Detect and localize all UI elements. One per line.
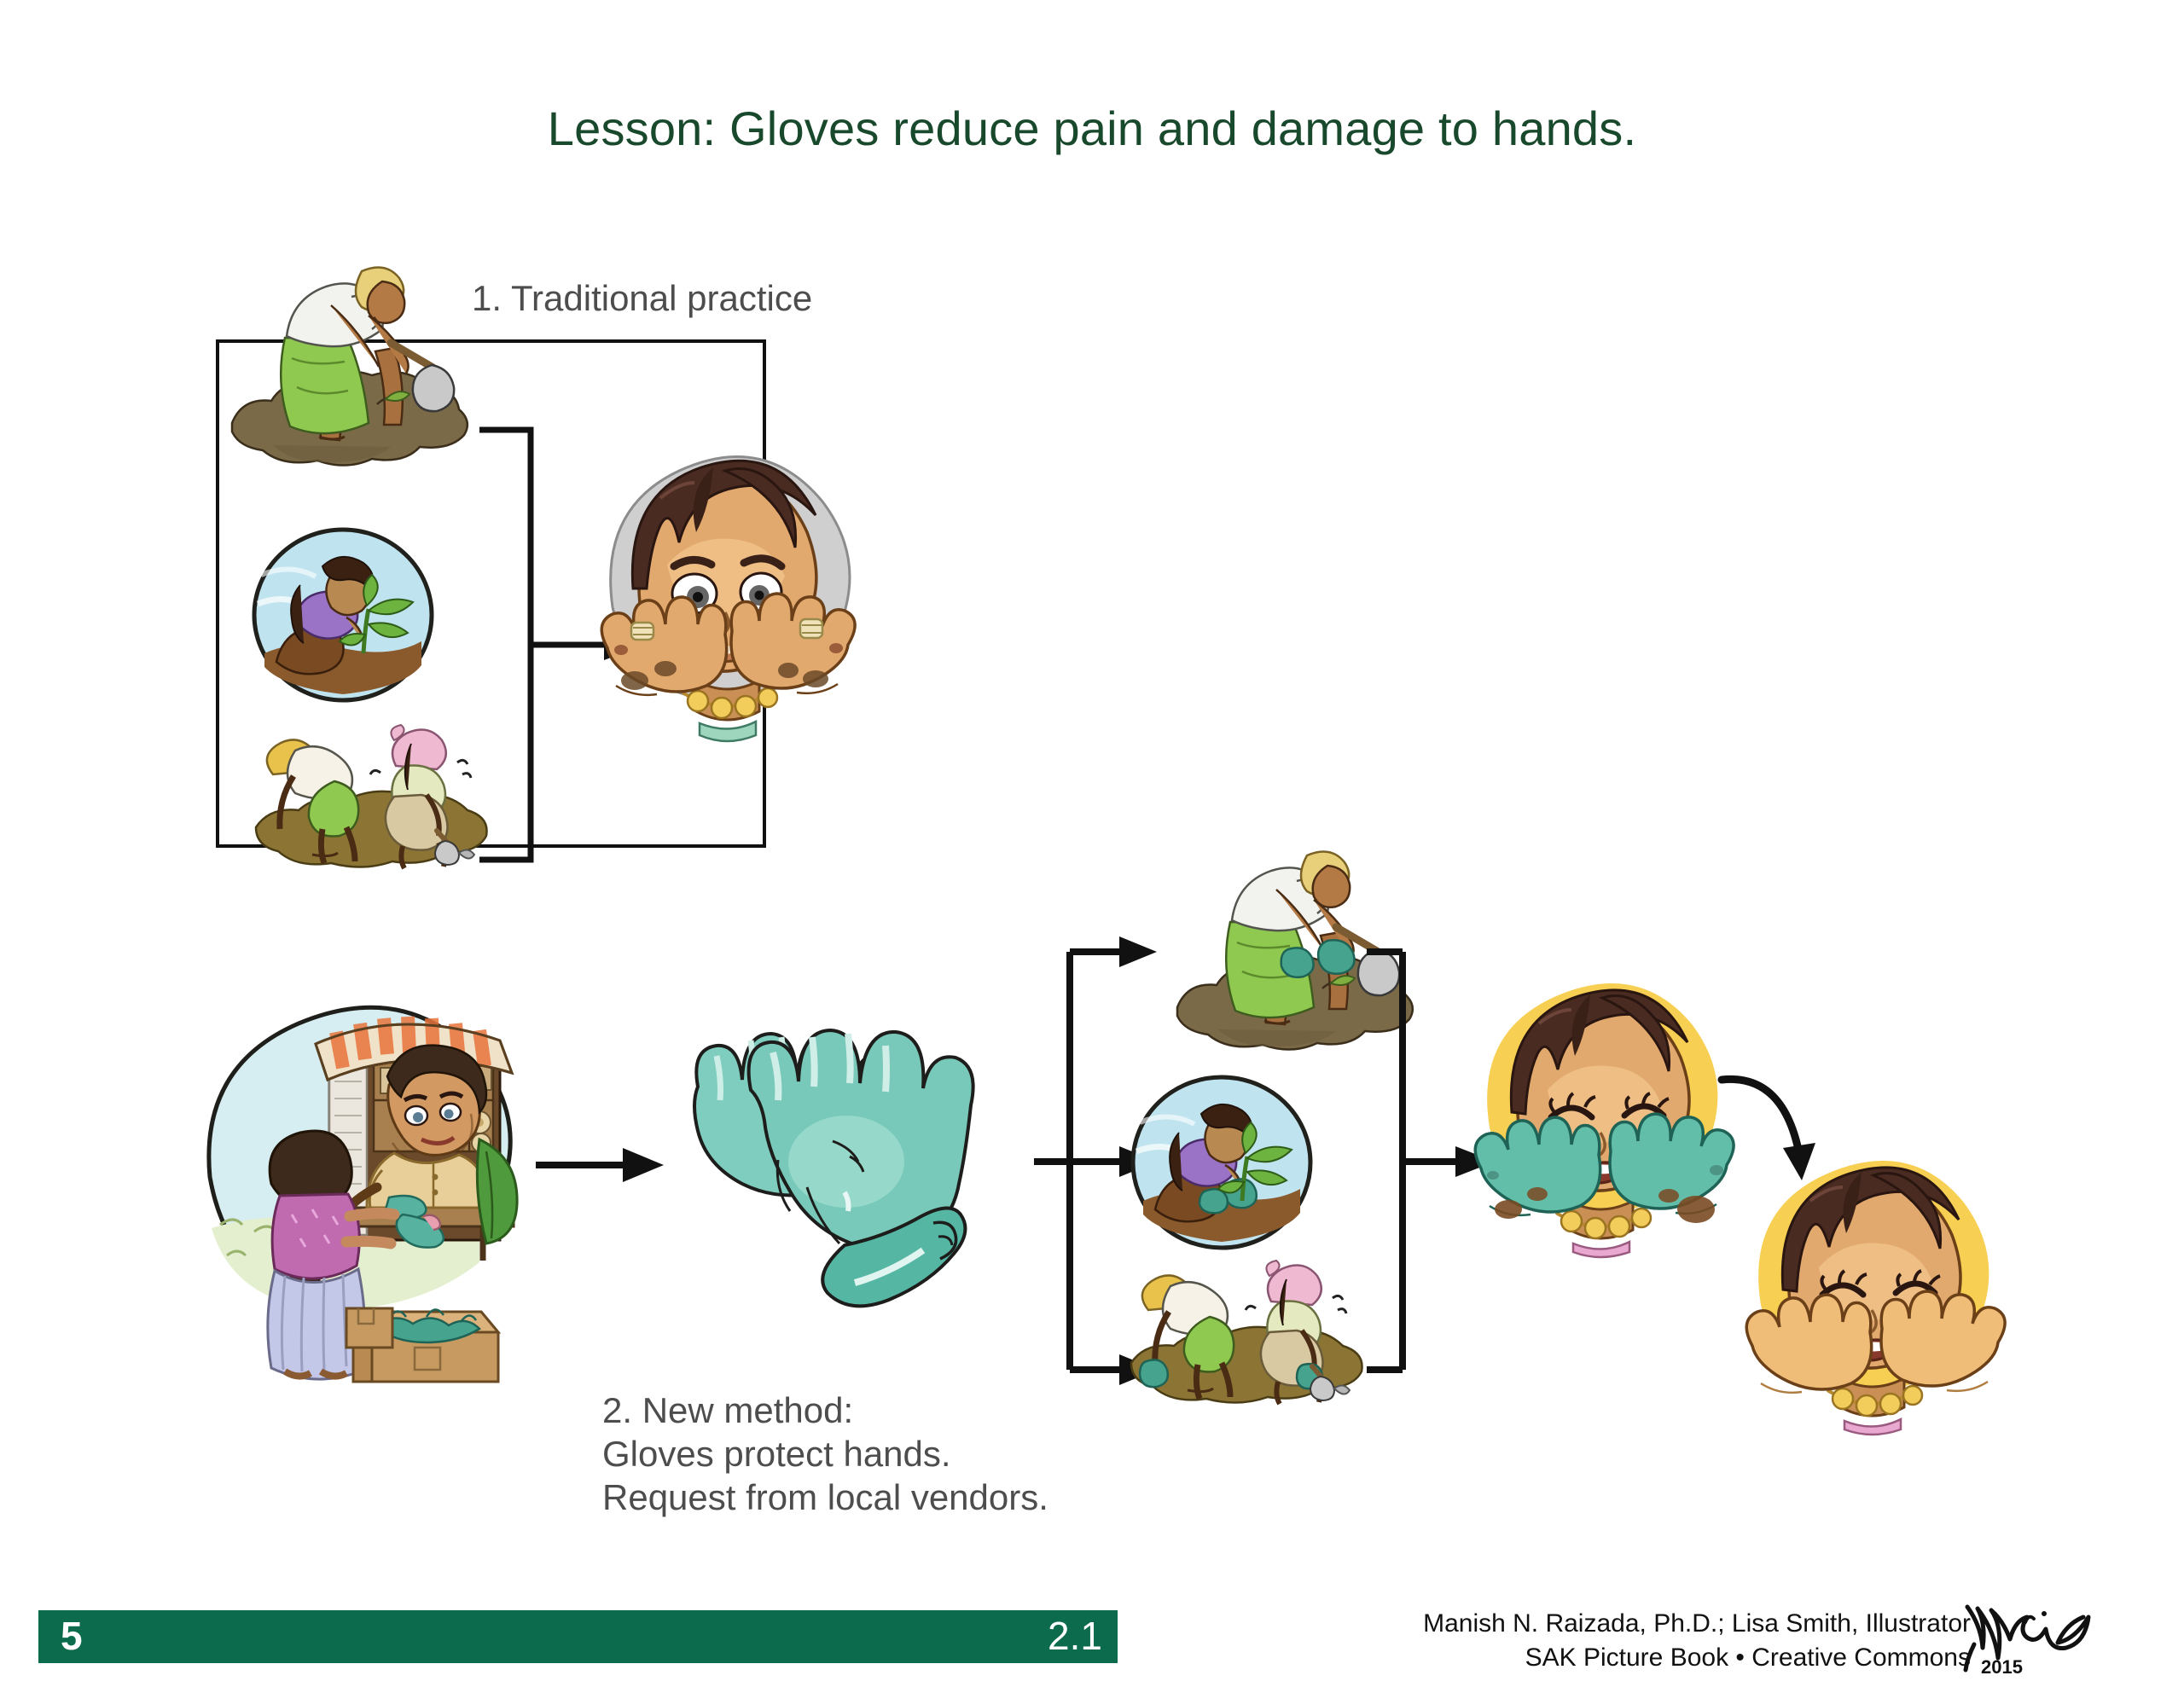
credits-line-1: Manish N. Raizada, Ph.D.; Lisa Smith, Il… [1135,1607,1971,1641]
picture-book-page: Lesson: Gloves reduce pain and damage to… [0,0,2184,1687]
new-method-line-1: 2. New method: [602,1388,1048,1432]
page-number: 5 [61,1613,83,1659]
woman-planting-seedling-barehanded [251,525,435,704]
woman-digging-with-spade-barehanded [224,256,479,478]
new-method-line-3: Request from local vendors. [602,1475,1048,1519]
woman-planting-seedling-with-gloves [1130,1073,1314,1252]
happy-face-clean-hands [1740,1143,2013,1424]
pair-of-teal-rubber-gloves [631,964,998,1390]
new-method-line-2: Gloves protect hands. [602,1432,1048,1475]
two-women-weeding-with-gloves [1119,1237,1375,1417]
section-number: 2.1 [1048,1613,1102,1659]
credits: Manish N. Raizada, Ph.D.; Lisa Smith, Il… [1135,1607,1971,1675]
illustrator-signature: 2015 [1962,1597,2124,1682]
signature-year: 2015 [1981,1656,2023,1678]
new-method-label: 2. New method: Gloves protect hands. Req… [602,1388,1048,1520]
happy-face-gloved-hands [1469,965,1742,1247]
footer-bar: 5 2.1 [38,1610,1118,1663]
page-title: Lesson: Gloves reduce pain and damage to… [0,101,2184,156]
two-women-weeding-barehanded [244,701,500,882]
credits-line-2: SAK Picture Book • Creative Commons [1135,1641,1971,1675]
buying-gloves-from-vendor [179,972,555,1382]
sad-face-damaged-hands [587,437,868,744]
traditional-practice-label: 1. Traditional practice [472,278,812,319]
